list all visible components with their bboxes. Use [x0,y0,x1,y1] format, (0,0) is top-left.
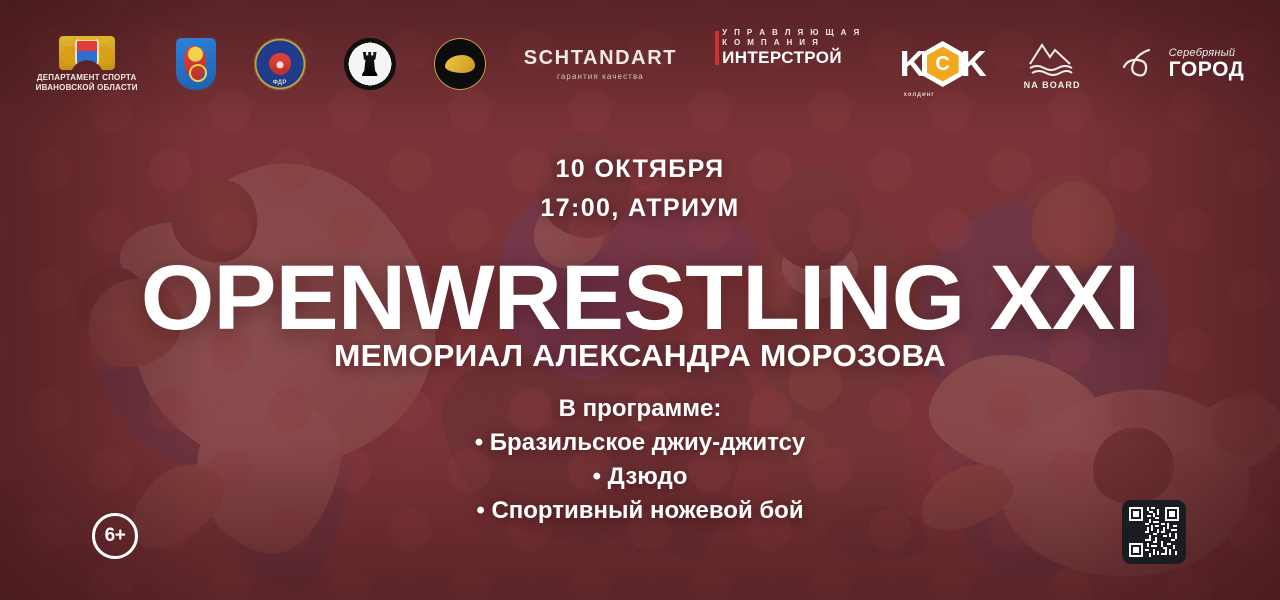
qr-code[interactable] [1122,500,1186,564]
event-date: 10 ОКТЯБРЯ [0,150,1280,189]
event-time-place: 17:00, АТРИУМ [0,189,1280,228]
poster-content: 10 ОКТЯБРЯ 17:00, АТРИУМ OPENWRESTLING X… [0,0,1280,600]
page-title: OPENWRESTLING XXI [0,252,1280,344]
event-subtitle: МЕМОРИАЛ АЛЕКСАНДРА МОРОЗОВА [0,338,1280,374]
qr-code-icon [1129,507,1179,557]
program-heading: В программе: [0,392,1280,426]
program-list: В программе: • Бразильское джиу-джитсу •… [0,392,1280,528]
event-datetime: 10 ОКТЯБРЯ 17:00, АТРИУМ [0,150,1280,228]
program-item-bjj: • Бразильское джиу-джитсу [0,426,1280,460]
status-badge: 6+ [92,513,138,559]
program-item-judo: • Дзюдо [0,460,1280,494]
program-item-knife: • Спортивный ножевой бой [0,494,1280,528]
event-poster: Департамент спорта Ивановской области ФД… [0,0,1280,600]
